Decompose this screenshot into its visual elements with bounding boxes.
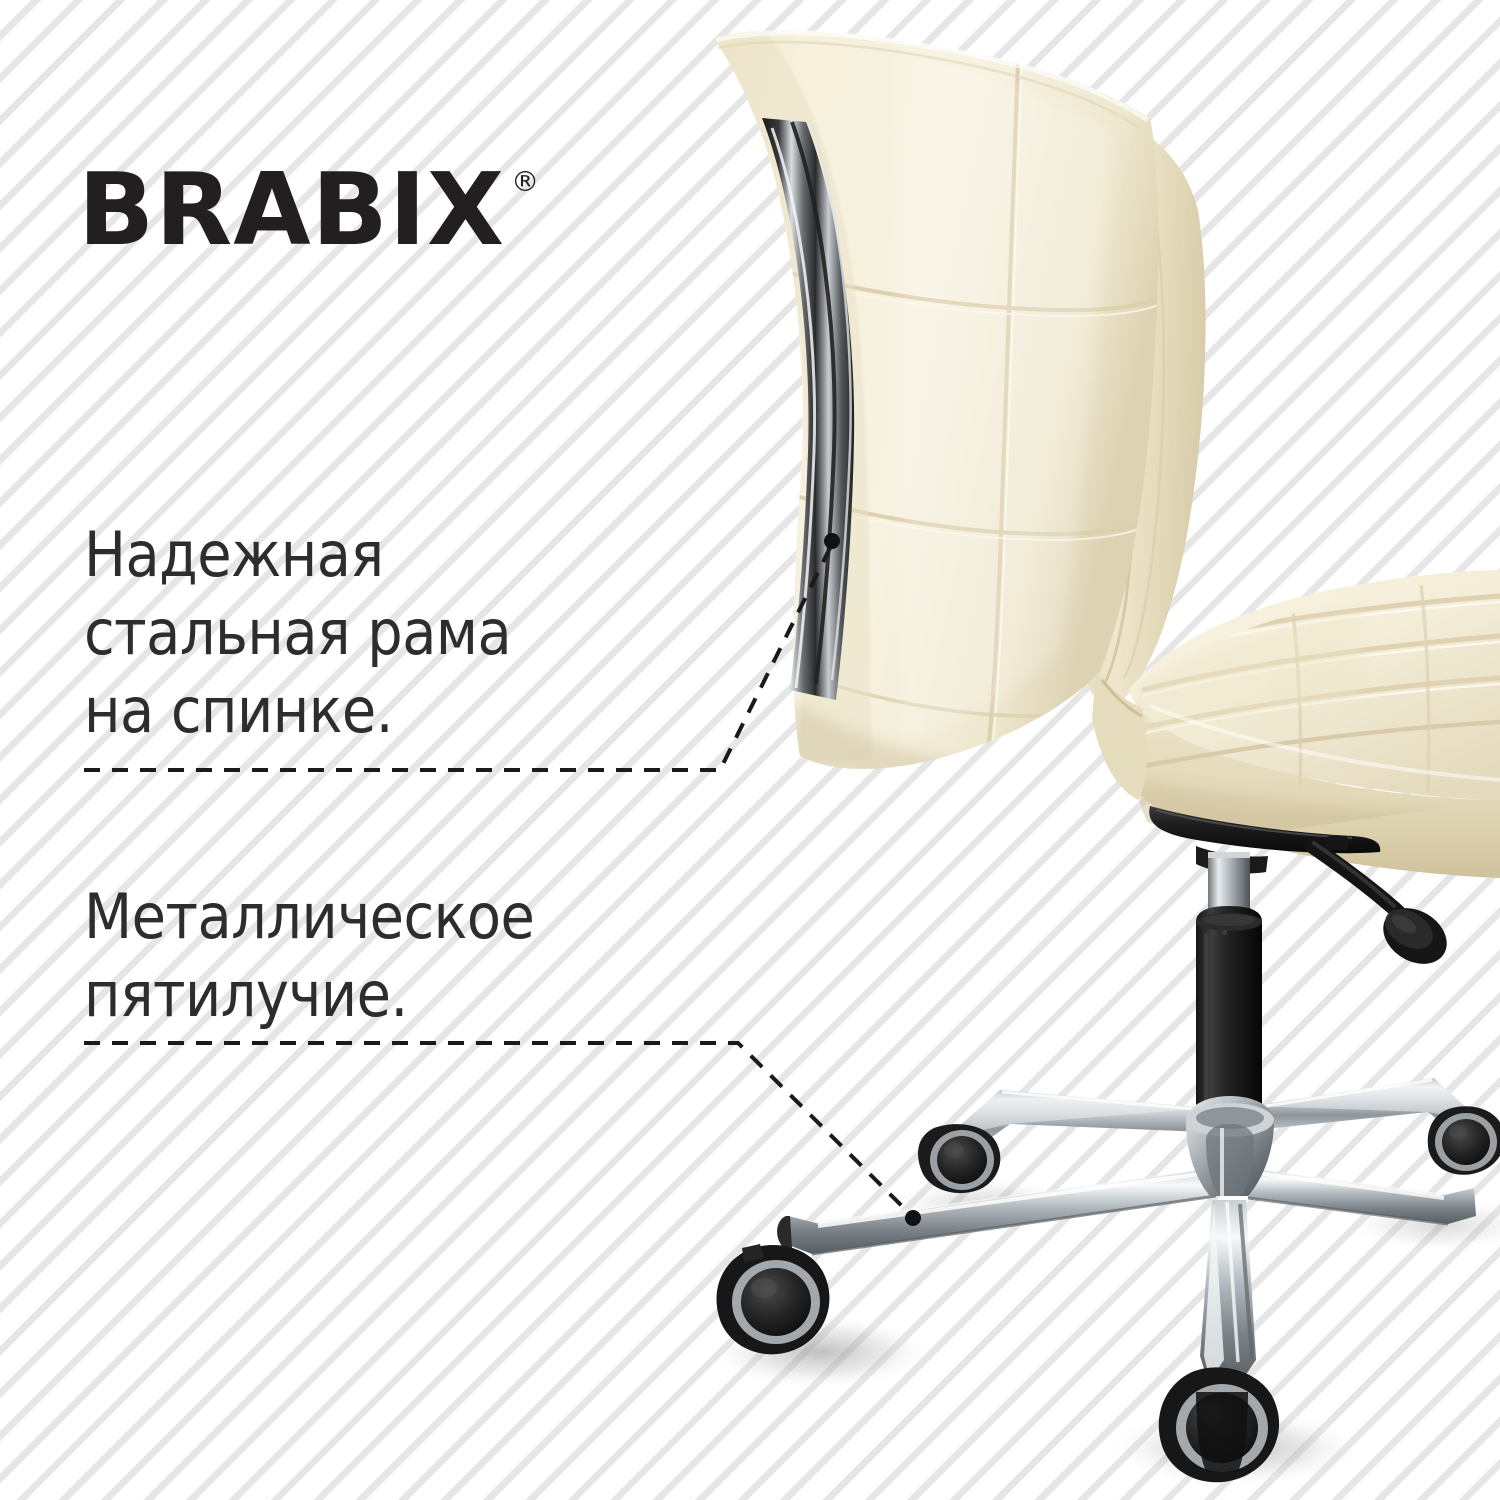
caster-rear-right — [1428, 1106, 1500, 1174]
brabix-logo: BRABIX ® — [78, 160, 539, 260]
callout-steel-frame-text: Надежная стальная рама на спинке. — [84, 516, 511, 750]
registered-trademark-icon: ® — [511, 168, 539, 196]
callout-metal-base-text: Металлическое пятилучие. — [84, 878, 534, 1034]
caster-rear-left — [918, 1124, 1000, 1193]
base-arm-front — [1200, 1200, 1256, 1386]
chair-backrest — [713, 26, 1206, 800]
caster-left — [716, 1244, 829, 1354]
callout-steel-frame: Надежная стальная рама на спинке. — [84, 516, 511, 750]
brabix-wordmark: BRABIX — [78, 160, 505, 260]
product-infographic: BRABIX ® Надежная стальная рама на спинк… — [0, 0, 1500, 1500]
callout-metal-base: Металлическое пятилучие. — [84, 878, 534, 1034]
